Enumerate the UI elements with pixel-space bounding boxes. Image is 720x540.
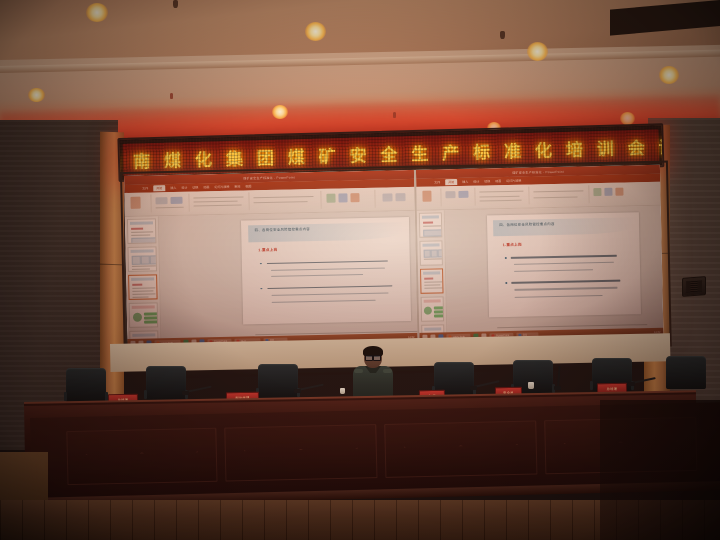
pp-tab-design[interactable]: 设计: [473, 180, 479, 184]
water-cup: [340, 388, 345, 394]
podium-chair: [258, 364, 298, 398]
microphone-base: [294, 389, 301, 393]
presenter-shoulder-board: [383, 369, 392, 373]
podium-panel: [66, 428, 217, 485]
sprinkler-head-icon: [173, 0, 178, 8]
pp-tab-insert[interactable]: 插入: [170, 186, 176, 190]
wall-speaker-icon: [682, 276, 706, 297]
placard-label: 总经理: [607, 386, 618, 391]
microphone-base: [470, 386, 477, 390]
pp-tab-animations[interactable]: 动画: [203, 185, 209, 189]
ceiling-downlight-icon: [659, 66, 679, 84]
pp-thumbnail-pane-left[interactable]: [125, 216, 162, 348]
pp-tab-design[interactable]: 设计: [181, 186, 187, 190]
pp-current-slide-right: 四、各岗位安全风险管控重点内容 1.重点上岗: [487, 212, 641, 317]
pp-tab-insert[interactable]: 插入: [462, 180, 468, 184]
pp-thumbnail[interactable]: [127, 218, 157, 244]
ceiling-downlight-icon: [527, 42, 548, 61]
sprinkler-head-icon: [393, 112, 396, 118]
pp-thumbnail[interactable]: [419, 240, 443, 265]
sprinkler-head-icon: [170, 93, 173, 99]
microphone-base: [182, 391, 189, 395]
sprinkler-head-icon: [500, 31, 505, 39]
water-cup: [528, 382, 534, 389]
pp-body-left: 四、各岗位安全风险管控重点内容 1.重点上岗: [125, 211, 418, 348]
microphone-base: [628, 382, 635, 386]
microphone-gooseneck: [298, 384, 324, 391]
pp-thumbnail[interactable]: [421, 296, 445, 321]
podium-chair: [146, 366, 186, 400]
pp-thumbnail-selected[interactable]: [128, 274, 158, 300]
pp-tab-home[interactable]: 开始: [153, 185, 165, 191]
pp-tab-transitions[interactable]: 切换: [484, 179, 490, 183]
pp-thumbnail[interactable]: [127, 246, 157, 272]
slide-heading-text: 1.重点上岗: [258, 248, 277, 253]
podium-panel: [224, 424, 377, 481]
shadow-right-corner: [600, 400, 720, 540]
pp-tab-file[interactable]: 文件: [142, 186, 148, 190]
conference-hall-photo: 云 南 煤 化 集 团 煤 矿 安 全 生 产 标 准 化 培 训 会 议 煤矿…: [0, 0, 720, 540]
presenter-shoulder-board: [354, 369, 363, 373]
pp-tab-slideshow[interactable]: 幻灯片放映: [506, 179, 521, 183]
podium-chair: [666, 356, 706, 389]
pp-thumbnail[interactable]: [419, 212, 443, 237]
podium-chair: [66, 368, 106, 402]
microphone-gooseneck: [186, 386, 212, 393]
ceiling-downlight-icon: [86, 3, 108, 22]
pp-window-title: 煤矿安全生产标准化 - PowerPoint: [243, 175, 295, 180]
ceiling-downlight-icon: [272, 105, 288, 119]
pp-thumbnail-selected[interactable]: [420, 268, 444, 293]
pp-window-title: 煤矿安全生产标准化 - PowerPoint: [512, 169, 564, 174]
microphone-stem: [557, 366, 560, 388]
pp-thumbnail-pane-right[interactable]: [417, 210, 448, 342]
pp-tab-review[interactable]: 审阅: [234, 185, 240, 189]
pp-slide-canvas-right[interactable]: 四、各岗位安全风险管控重点内容 1.重点上岗: [445, 206, 664, 342]
pp-tab-home[interactable]: 开始: [445, 179, 457, 185]
slide-heading-text: 1.重点上岗: [503, 242, 522, 247]
slide-header-band: [493, 217, 633, 236]
pp-tab-file[interactable]: 文件: [434, 180, 440, 184]
projection-screen: 煤矿安全生产标准化 - PowerPoint 文件 开始 插入 设计 切换 动画…: [124, 165, 663, 348]
ceiling-downlight-icon: [28, 88, 45, 102]
pp-tab-transitions[interactable]: 切换: [192, 185, 198, 189]
pp-tab-animations[interactable]: 动画: [495, 179, 501, 183]
powerpoint-window-right[interactable]: 煤矿安全生产标准化 - PowerPoint 文件 开始 插入 设计 切换 动画…: [416, 165, 664, 342]
glasses-icon: [365, 355, 381, 359]
pp-tab-slideshow[interactable]: 幻灯片放映: [214, 185, 229, 189]
pp-body-right: 四、各岗位安全风险管控重点内容 1.重点上岗: [417, 206, 664, 342]
pp-tab-view[interactable]: 视图: [245, 184, 251, 188]
powerpoint-window-left[interactable]: 煤矿安全生产标准化 - PowerPoint 文件 开始 插入 设计 切换 动画…: [124, 170, 418, 348]
slide-header-band: [248, 222, 403, 242]
pp-slide-canvas-left[interactable]: 四、各岗位安全风险管控重点内容 1.重点上岗: [159, 211, 418, 348]
pp-current-slide-left: 四、各岗位安全风险管控重点内容 1.重点上岗: [241, 217, 411, 324]
podium-panel: [384, 421, 537, 478]
ceiling-downlight-icon: [305, 22, 326, 41]
microphone-base: [554, 386, 561, 390]
pp-thumbnail[interactable]: [129, 302, 159, 328]
